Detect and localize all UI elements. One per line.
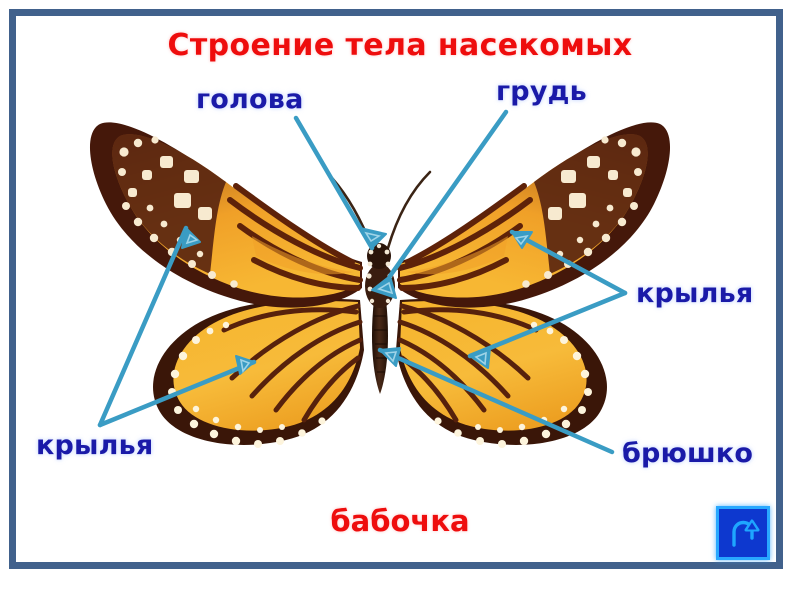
figure-caption: бабочка (0, 504, 800, 538)
butterfly-body (365, 243, 395, 394)
forewing-right (398, 122, 670, 307)
u-turn-arrow-icon (725, 515, 761, 551)
label-wings-right: крылья (636, 278, 753, 309)
hindwing-left (153, 299, 364, 448)
label-abdomen: брюшко (622, 438, 753, 469)
back-button[interactable] (716, 506, 770, 560)
forewing-left (90, 122, 362, 307)
label-head: голова (196, 84, 304, 115)
slide-canvas: Строение тела насекомых голова грудь кры… (0, 0, 800, 600)
label-wings-left: крылья (36, 430, 153, 461)
page-title: Строение тела насекомых (0, 28, 800, 63)
label-thorax: грудь (496, 76, 587, 107)
